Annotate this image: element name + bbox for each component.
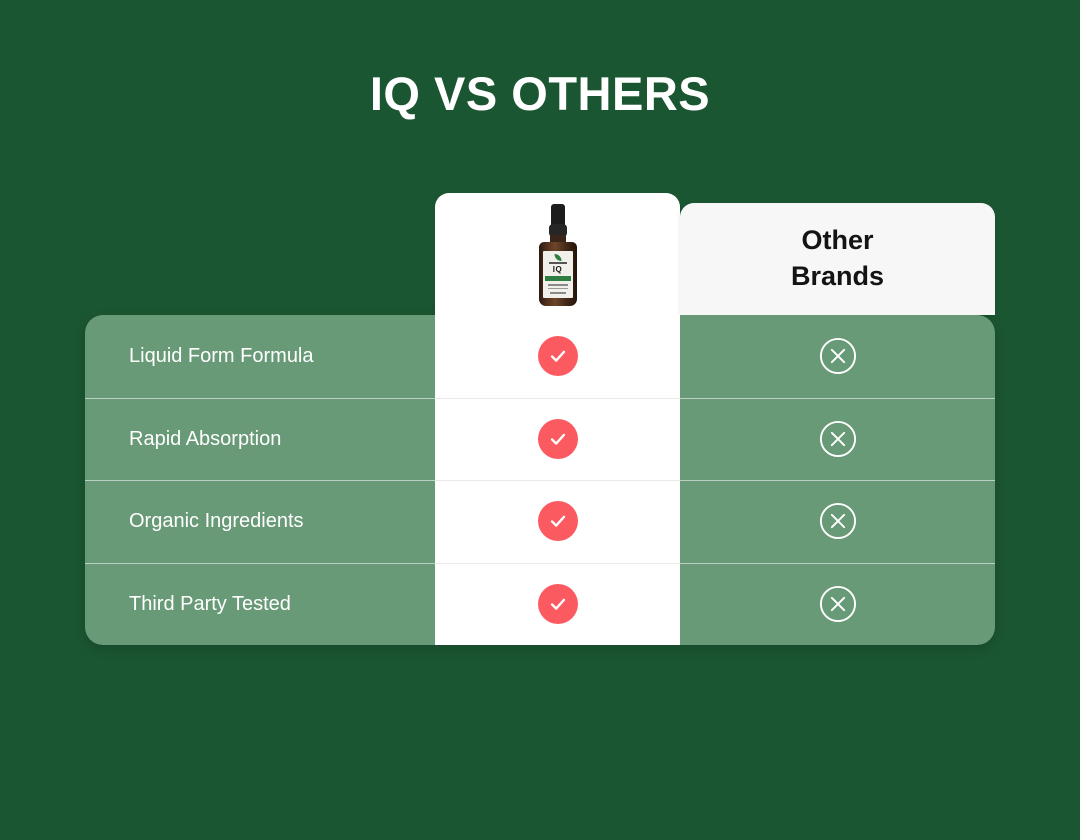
row-product-cell <box>435 315 680 398</box>
bottle-label-line-1 <box>548 284 568 286</box>
check-circle-filled-icon <box>538 584 578 624</box>
row-other-brands-cell <box>680 398 995 481</box>
cross-circle-outline-icon <box>819 337 857 375</box>
header-other-brands-label: Other Brands <box>791 223 884 294</box>
bottle-label-band <box>545 276 571 281</box>
bottle-brand-text <box>549 262 567 264</box>
row-other-brands-cell <box>680 315 995 398</box>
feature-label: Organic Ingredients <box>129 509 304 533</box>
bottle-label-line-2 <box>548 288 568 290</box>
page-title: IQ VS OTHERS <box>0 68 1080 120</box>
bottle-label: IQ <box>543 251 573 298</box>
table-header: IQ Other Brands <box>85 193 995 315</box>
table-row: Organic Ingredients <box>85 480 995 563</box>
product-bottle-icon: IQ <box>535 204 581 306</box>
header-other-brands-line-2: Brands <box>791 259 884 295</box>
row-feature-cell: Organic Ingredients <box>85 480 435 563</box>
table-row: Rapid Absorption <box>85 398 995 481</box>
row-product-cell <box>435 563 680 646</box>
leaf-icon <box>554 254 561 261</box>
table-row: Third Party Tested <box>85 563 995 646</box>
check-circle-filled-icon <box>538 336 578 376</box>
cross-circle-outline-icon <box>819 420 857 458</box>
header-cell-other-brands: Other Brands <box>680 203 995 315</box>
table-row: Liquid Form Formula <box>85 315 995 398</box>
check-circle-filled-icon <box>538 419 578 459</box>
check-circle-filled-icon <box>538 501 578 541</box>
feature-label: Liquid Form Formula <box>129 344 314 368</box>
comparison-table: IQ Other Brands Liquid Form FormulaRapid… <box>85 193 995 645</box>
row-feature-cell: Third Party Tested <box>85 563 435 646</box>
row-feature-cell: Liquid Form Formula <box>85 315 435 398</box>
header-other-brands-line-1: Other <box>791 223 884 259</box>
cross-circle-outline-icon <box>819 502 857 540</box>
table-body: Liquid Form FormulaRapid AbsorptionOrgan… <box>85 315 995 645</box>
row-product-cell <box>435 480 680 563</box>
row-other-brands-cell <box>680 480 995 563</box>
bottle-product-name: IQ <box>543 266 573 274</box>
row-product-cell <box>435 398 680 481</box>
bottle-label-line-3 <box>550 292 566 294</box>
feature-label: Third Party Tested <box>129 592 291 616</box>
row-feature-cell: Rapid Absorption <box>85 398 435 481</box>
row-other-brands-cell <box>680 563 995 646</box>
cross-circle-outline-icon <box>819 585 857 623</box>
header-cell-product: IQ <box>435 193 680 315</box>
feature-label: Rapid Absorption <box>129 427 281 451</box>
